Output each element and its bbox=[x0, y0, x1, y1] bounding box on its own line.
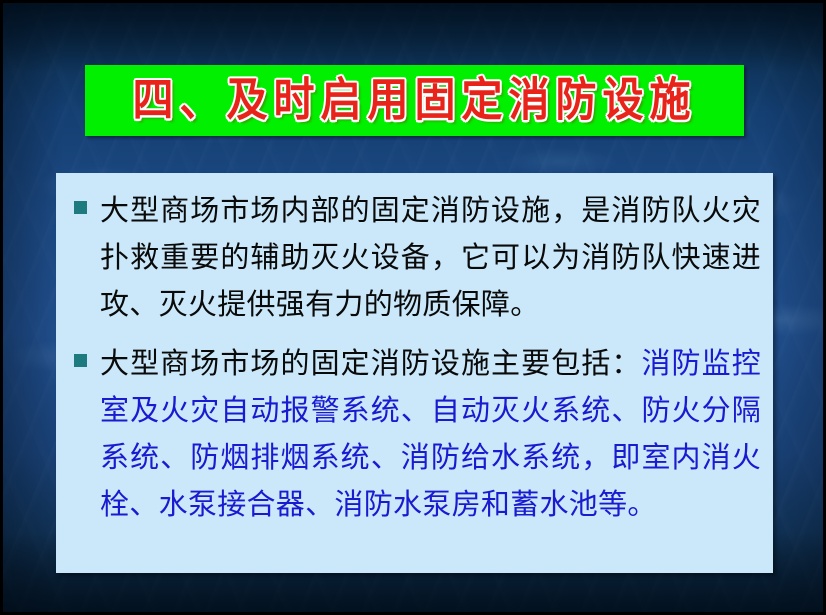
slide-title: 四、及时启用固定消防设施 bbox=[133, 78, 697, 124]
bullet-segment: 大型商场市场的固定消防设施主要包括： bbox=[100, 346, 641, 380]
bullet-text: 大型商场市场内部的固定消防设施，是消防队火灾扑救重要的辅助灭火设备，它可以为消防… bbox=[100, 187, 761, 328]
content-panel: 大型商场市场内部的固定消防设施，是消防队火灾扑救重要的辅助灭火设备，它可以为消防… bbox=[56, 173, 773, 573]
square-bullet-icon bbox=[74, 354, 87, 367]
bullet-segment: 大型商场市场内部的固定消防设施，是消防队火灾扑救重要的辅助灭火设备，它可以为消防… bbox=[100, 193, 761, 321]
presentation-slide: 四、及时启用固定消防设施 大型商场市场内部的固定消防设施，是消防队火灾扑救重要的… bbox=[0, 0, 826, 615]
bullet-text: 大型商场市场的固定消防设施主要包括：消防监控室及火灾自动报警系统、自动灭火系统、… bbox=[100, 340, 761, 528]
bullet-item: 大型商场市场的固定消防设施主要包括：消防监控室及火灾自动报警系统、自动灭火系统、… bbox=[66, 340, 761, 528]
square-bullet-icon bbox=[74, 201, 87, 214]
bullet-item: 大型商场市场内部的固定消防设施，是消防队火灾扑救重要的辅助灭火设备，它可以为消防… bbox=[66, 187, 761, 328]
title-banner: 四、及时启用固定消防设施 bbox=[85, 65, 744, 136]
